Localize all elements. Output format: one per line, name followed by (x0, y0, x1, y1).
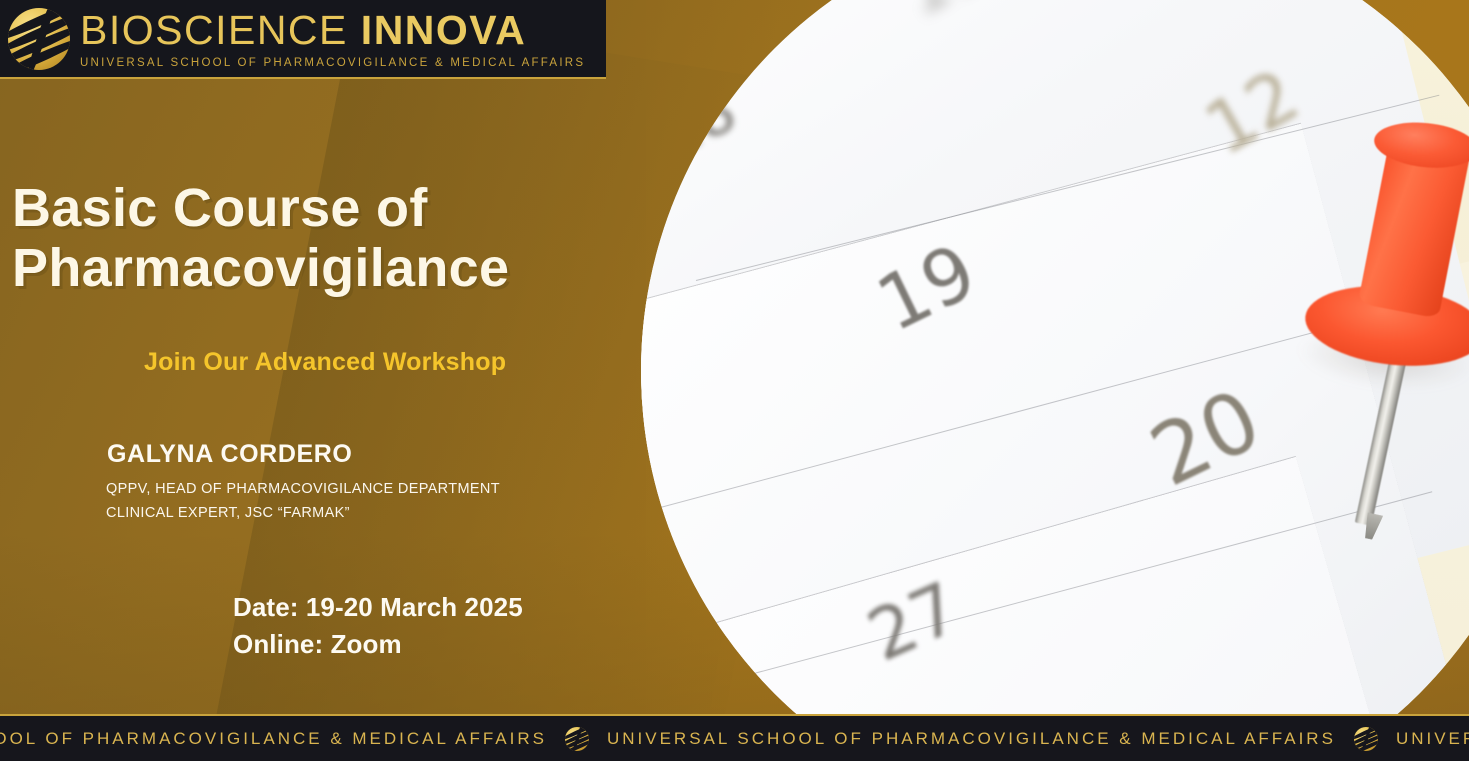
globe-icon (565, 727, 589, 751)
speaker-name: GALYNA CORDERO (107, 440, 352, 469)
event-date: Date: 19-20 March 2025 (233, 592, 523, 623)
speaker-role-line-1: QPPV, HEAD OF PHARMACOVIGILANCE DEPARTME… (106, 481, 500, 497)
promo-banner: 11 12 18 19 20 27 BIOSCIENCE INNOVA UNIV… (0, 0, 1469, 761)
subtitle: Join Our Advanced Workshop (144, 348, 506, 377)
event-platform: Online: Zoom (233, 629, 402, 660)
brand-tagline: UNIVERSAL SCHOOL OF PHARMACOVIGILANCE & … (80, 57, 585, 69)
brand-name-thin: BIOSCIENCE (80, 7, 348, 53)
marquee-text: UNIVERSAL SCHOOL OF PHARMACOVIGILANCE & … (1394, 729, 1469, 749)
marquee-text: UNIVERSAL SCHOOL OF PHARMACOVIGILANCE & … (0, 729, 549, 749)
marquee-track: UNIVERSAL SCHOOL OF PHARMACOVIGILANCE & … (0, 727, 1469, 751)
brand-header-bar: BIOSCIENCE INNOVA UNIVERSAL SCHOOL OF PH… (0, 0, 606, 79)
title-line-2: Pharmacovigilance (12, 238, 652, 298)
footer-marquee: UNIVERSAL SCHOOL OF PHARMACOVIGILANCE & … (0, 714, 1469, 761)
brand-text: BIOSCIENCE INNOVA UNIVERSAL SCHOOL OF PH… (80, 8, 585, 69)
page-title: Basic Course of Pharmacovigilance (12, 178, 652, 299)
title-line-1: Basic Course of (12, 178, 428, 238)
globe-icon (1354, 727, 1378, 751)
brand-name-bold: INNOVA (361, 7, 526, 53)
marquee-text: UNIVERSAL SCHOOL OF PHARMACOVIGILANCE & … (605, 729, 1338, 749)
speaker-role-line-2: CLINICAL EXPERT, JSC “FARMAK” (106, 505, 350, 521)
brand-name: BIOSCIENCE INNOVA (80, 10, 585, 51)
globe-icon (8, 8, 70, 70)
